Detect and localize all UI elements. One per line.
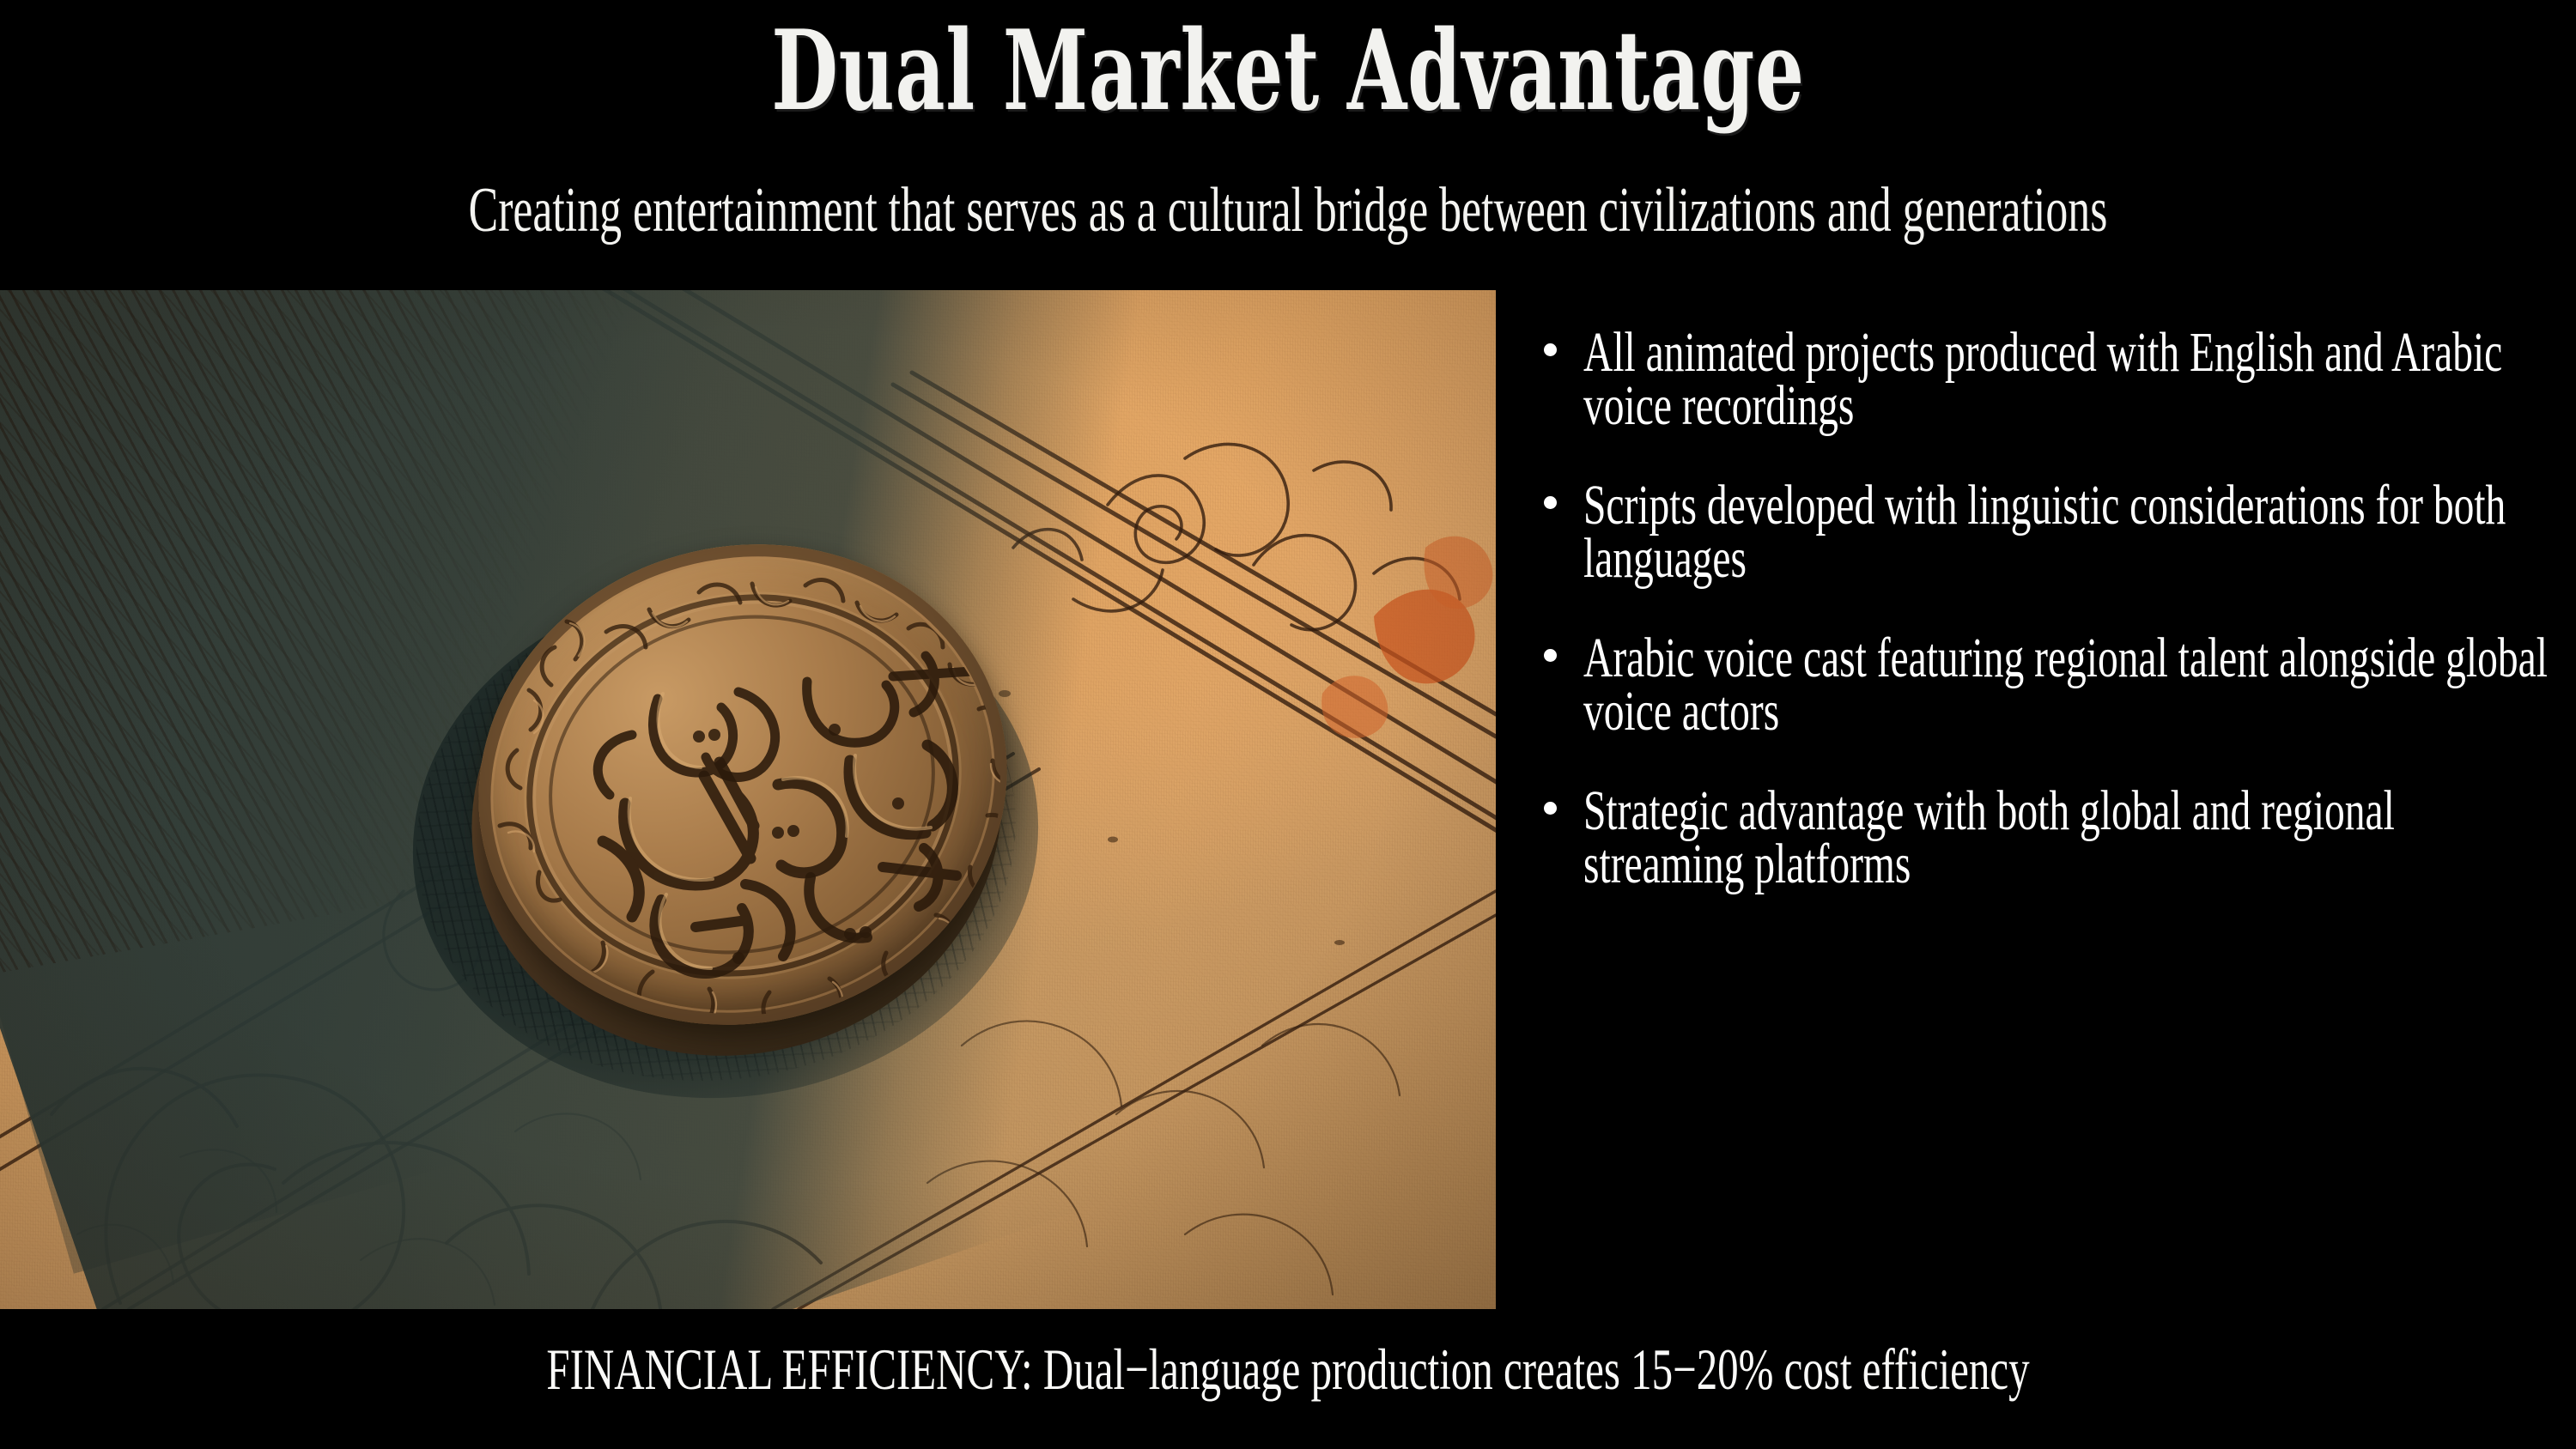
slide-header: Dual Market Advantage Creating entertain… bbox=[0, 0, 2576, 290]
page-subtitle: Creating entertainment that serves as a … bbox=[386, 168, 2190, 252]
bronze-medallion bbox=[447, 530, 1099, 1097]
bullet-text: Arabic voice cast featuring regional tal… bbox=[1583, 632, 2548, 738]
list-item: Scripts developed with linguistic consid… bbox=[1534, 479, 2555, 585]
bullet-point-icon bbox=[1544, 343, 1557, 356]
bullet-text: Strategic advantage with both global and… bbox=[1583, 785, 2548, 891]
medallion-engraving bbox=[447, 530, 1099, 1097]
bullet-point-icon bbox=[1544, 649, 1557, 662]
footer-callout-text: FINANCIAL EFFICIENCY: Dual−language prod… bbox=[361, 1330, 2215, 1409]
page-title: Dual Market Advantage bbox=[386, 0, 2190, 148]
illustration-panel bbox=[0, 290, 1496, 1309]
bullet-list: All animated projects produced with Engl… bbox=[1534, 326, 2555, 1288]
list-item: All animated projects produced with Engl… bbox=[1534, 326, 2555, 433]
bullet-point-icon bbox=[1544, 496, 1557, 509]
list-item: Strategic advantage with both global and… bbox=[1534, 785, 2555, 891]
bullet-point-icon bbox=[1544, 802, 1557, 815]
bullet-text: All animated projects produced with Engl… bbox=[1583, 326, 2548, 433]
list-item: Arabic voice cast featuring regional tal… bbox=[1534, 632, 2555, 738]
bullet-text: Scripts developed with linguistic consid… bbox=[1583, 479, 2548, 585]
slide-footer: FINANCIAL EFFICIENCY: Dual−language prod… bbox=[0, 1309, 2576, 1449]
